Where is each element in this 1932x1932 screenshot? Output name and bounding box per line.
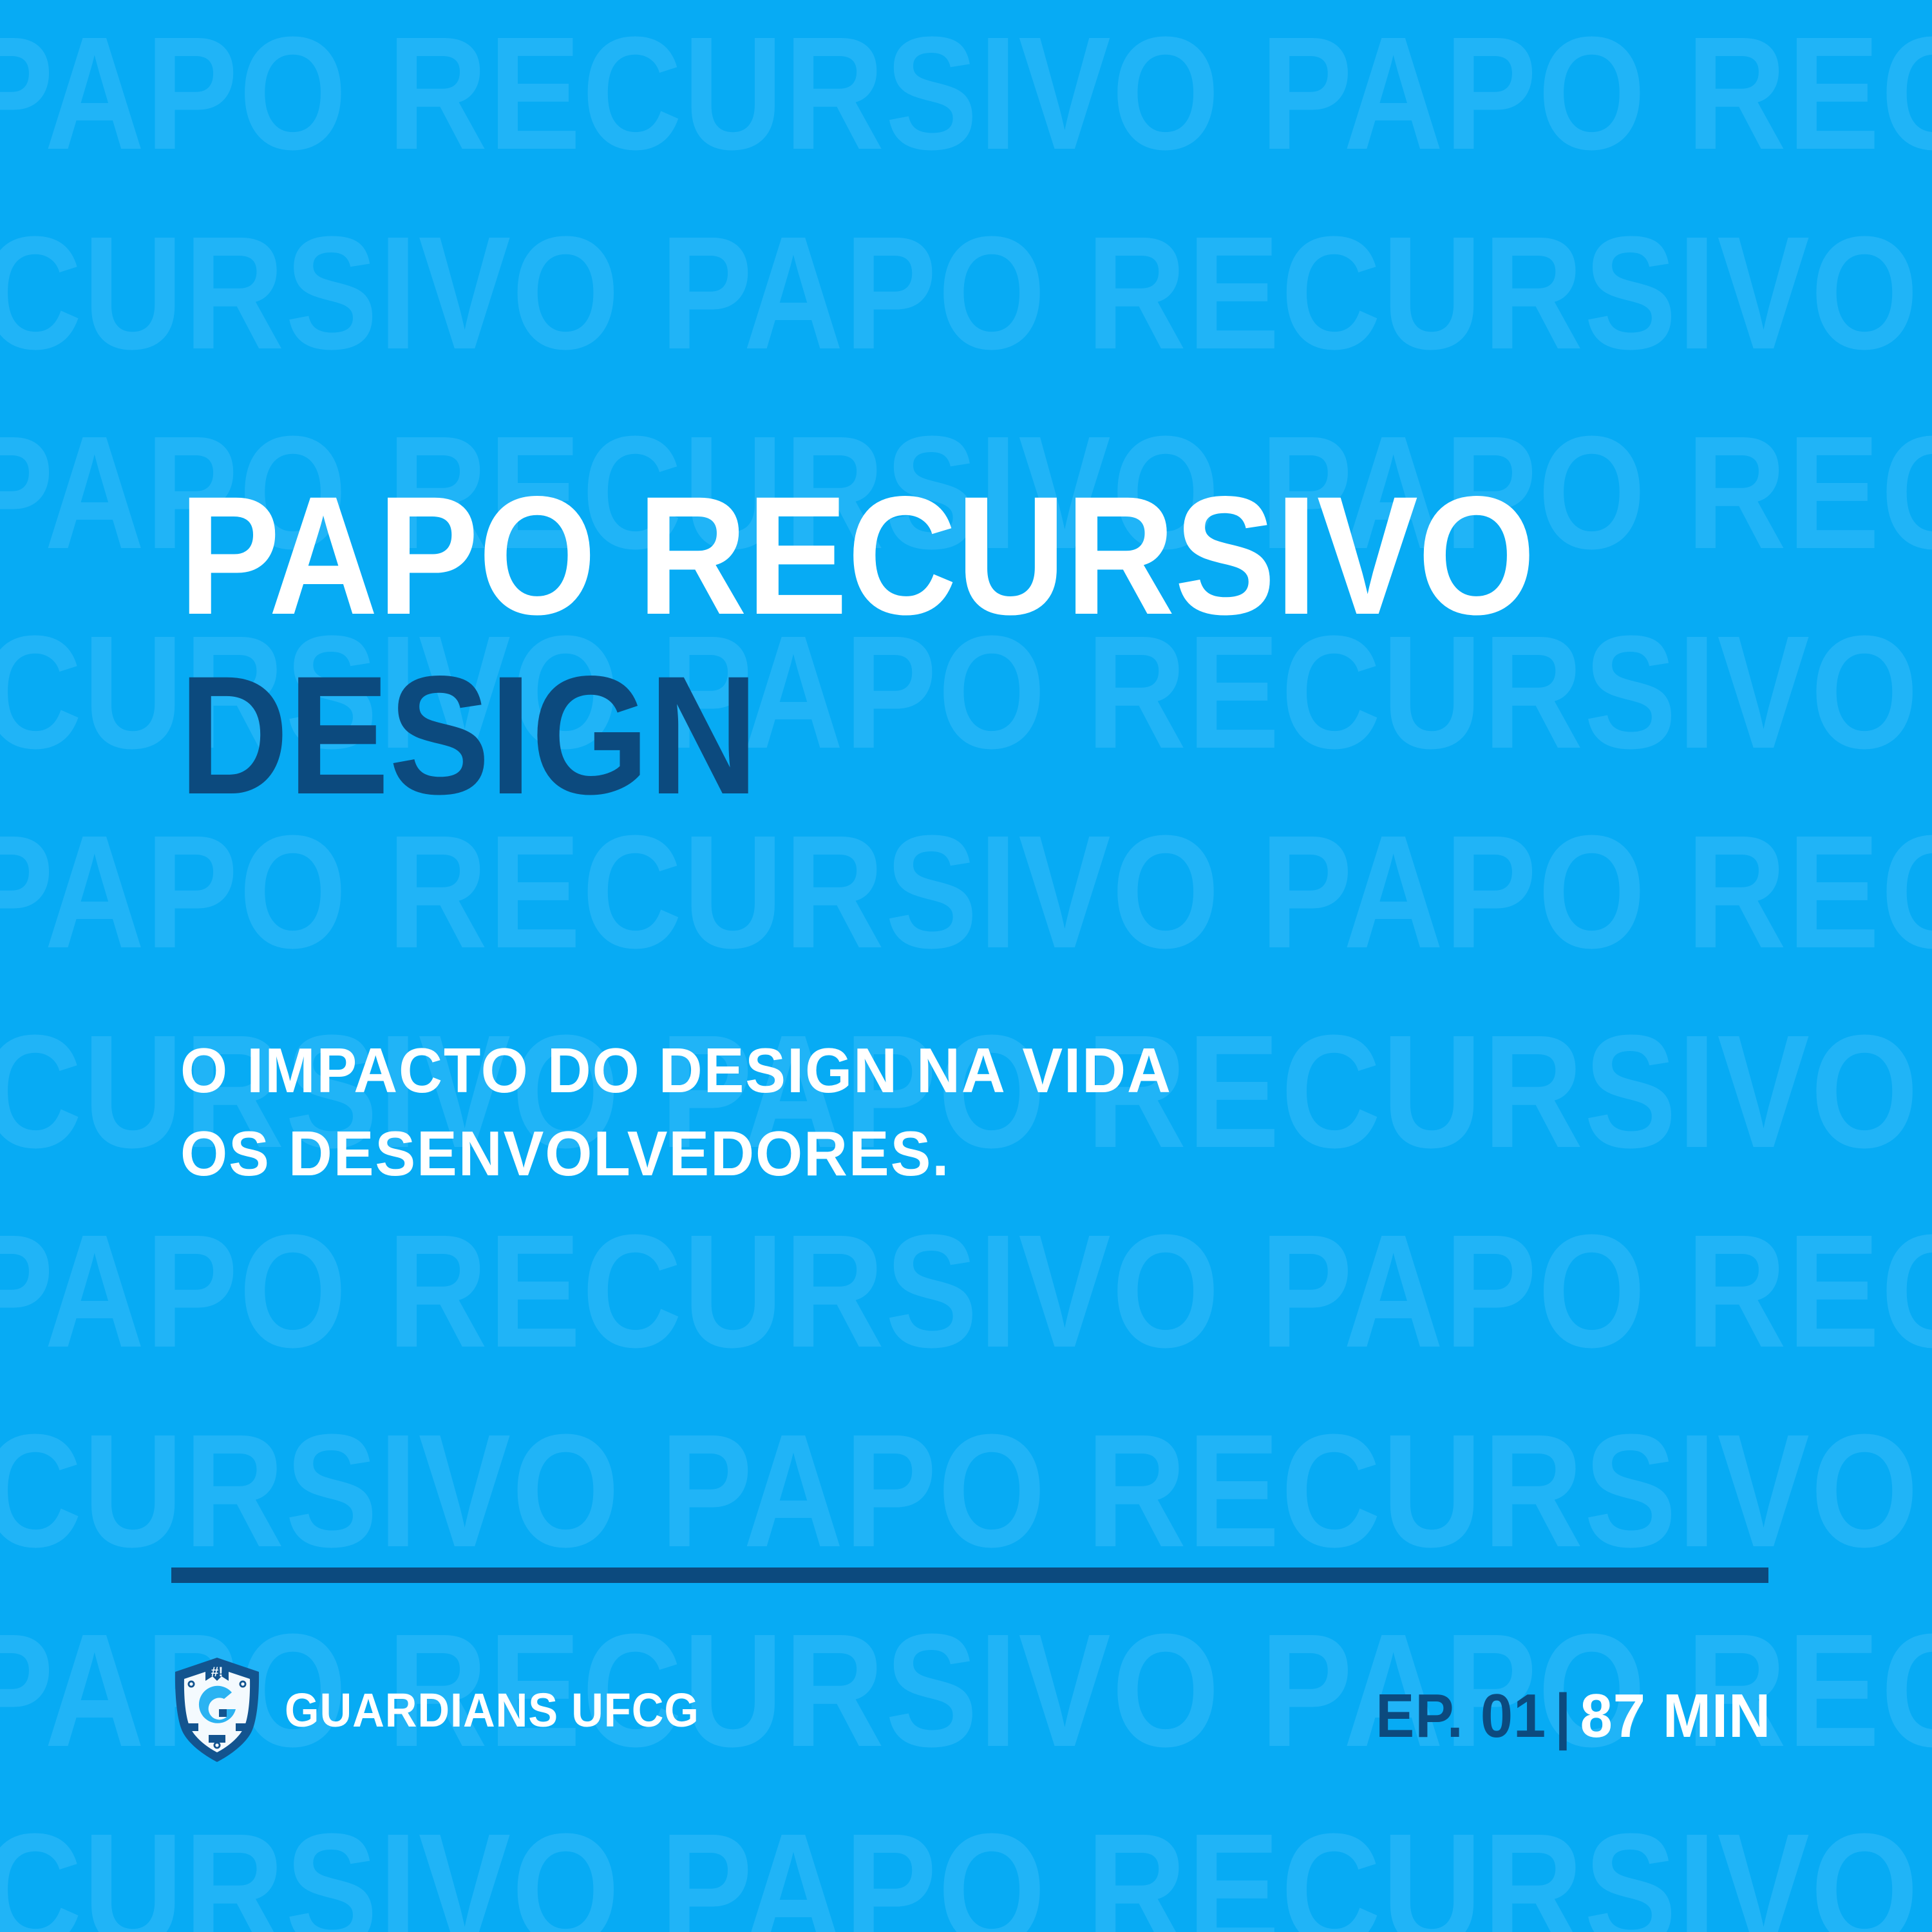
title-line-secondary: DESIGN xyxy=(179,653,1628,819)
footer-divider xyxy=(171,1567,1768,1583)
page-title: PAPO RECURSIVO DESIGN xyxy=(179,473,1789,819)
episode-number-label: EP. 01 xyxy=(1376,1681,1546,1750)
subtitle-line-2: OS DESENVOLVEDORES. xyxy=(180,1112,1726,1195)
guardians-shield-logo-icon: #! xyxy=(169,1655,265,1765)
subtitle-line-1: O IMPACTO DO DESIGN NA VIDA xyxy=(180,1029,1726,1112)
watermark-row: PAPO RECURSIVO PAPO RECURSIVO PAPO RECU xyxy=(0,811,1932,972)
footer-brand-group: #! GUARDIANS UFCG xyxy=(169,1655,730,1765)
meta-separator: | xyxy=(1546,1681,1580,1750)
watermark-row: RECURSIVO PAPO RECURSIVO PAPO RECURSIVO xyxy=(0,1810,1932,1932)
title-line-primary: PAPO RECURSIVO xyxy=(179,473,1628,639)
svg-text:#!: #! xyxy=(211,1665,223,1680)
brand-name-label: GUARDIANS UFCG xyxy=(285,1683,699,1738)
watermark-row: PAPO RECURSIVO PAPO RECURSIVO PAPO RECU xyxy=(0,1211,1932,1372)
episode-duration-label: 87 MIN xyxy=(1580,1681,1771,1750)
podcast-cover-canvas: PAPO RECURSIVO PAPO RECURSIVO PAPO RECU … xyxy=(0,0,1932,1932)
watermark-row: PAPO RECURSIVO PAPO RECURSIVO PAPO RECU xyxy=(0,13,1932,174)
background-watermark-pattern: PAPO RECURSIVO PAPO RECURSIVO PAPO RECU … xyxy=(0,0,1932,1932)
episode-subtitle: O IMPACTO DO DESIGN NA VIDA OS DESENVOLV… xyxy=(180,1029,1790,1196)
watermark-row: RECURSIVO PAPO RECURSIVO PAPO RECURSIVO xyxy=(0,1410,1932,1571)
watermark-row: RECURSIVO PAPO RECURSIVO PAPO RECURSIVO xyxy=(0,213,1932,374)
episode-meta: EP. 01|87 MIN xyxy=(1376,1681,1771,1752)
